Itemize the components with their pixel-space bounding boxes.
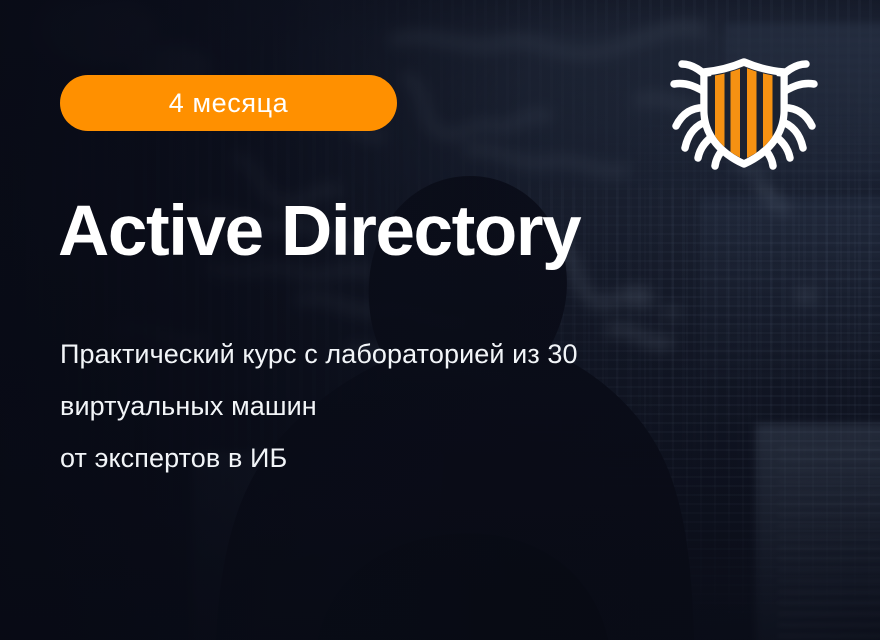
duration-badge[interactable]: 4 месяца bbox=[60, 75, 397, 131]
page-title: Active Directory bbox=[58, 196, 580, 267]
duration-badge-label: 4 месяца bbox=[169, 90, 289, 117]
course-promo-banner: 4 месяца Active Directory Практический к… bbox=[0, 0, 880, 640]
subtitle-line-1: Практический курс с лабораторией из 30 bbox=[60, 328, 800, 380]
banner-content: 4 месяца Active Directory Практический к… bbox=[0, 0, 880, 640]
subtitle: Практический курс с лабораторией из 30 в… bbox=[60, 328, 800, 484]
subtitle-line-3: от экспертов в ИБ bbox=[60, 432, 800, 484]
spider-shield-logo bbox=[668, 48, 820, 170]
subtitle-line-2: виртуальных машин bbox=[60, 380, 800, 432]
